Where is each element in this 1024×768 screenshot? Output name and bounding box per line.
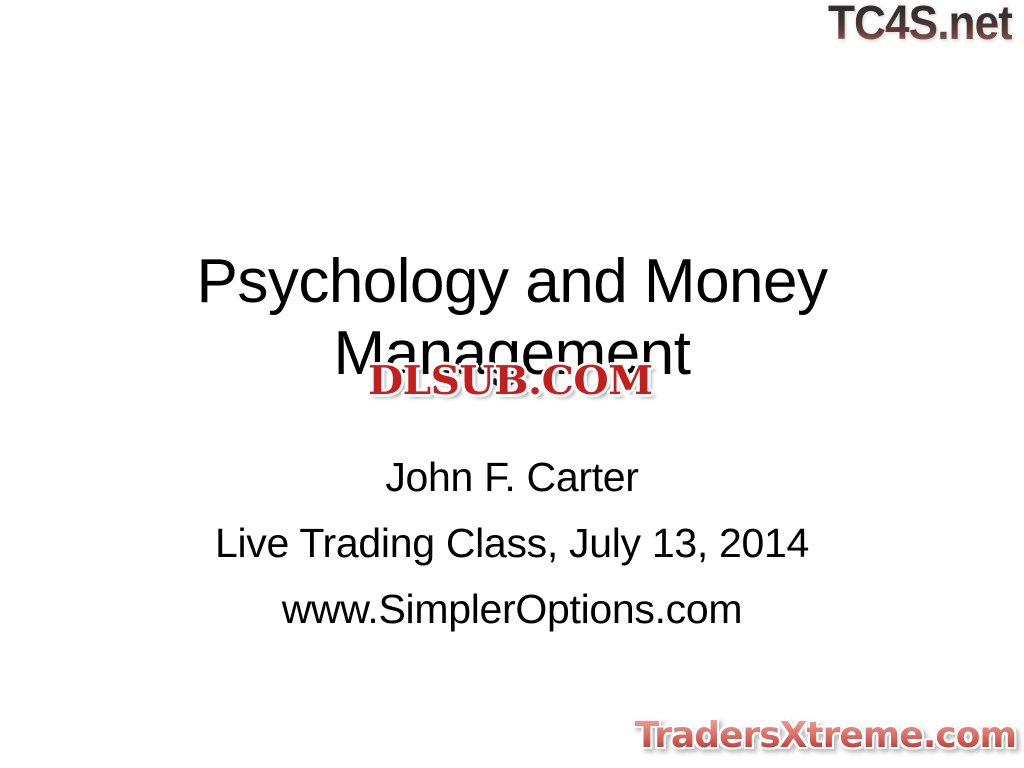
title-line-1: Psychology and Money [0,246,1024,318]
subtitle-website: www.SimplerOptions.com [0,576,1024,642]
slide-subtitle: John F. Carter Live Trading Class, July … [0,444,1024,642]
watermark-tradersxtreme-com: TradersXtreme.com [635,716,1016,756]
subtitle-presenter: John F. Carter [0,444,1024,510]
presentation-slide: TC4S.net Psychology and Money Management… [0,0,1024,768]
watermark-dlsub-com: DLSUB.COM [368,360,653,402]
watermark-tradersxtreme-label: TradersXtreme.com [635,715,1016,756]
subtitle-event: Live Trading Class, July 13, 2014 [0,510,1024,576]
watermark-tc4s-net: TC4S.net [828,0,1012,50]
